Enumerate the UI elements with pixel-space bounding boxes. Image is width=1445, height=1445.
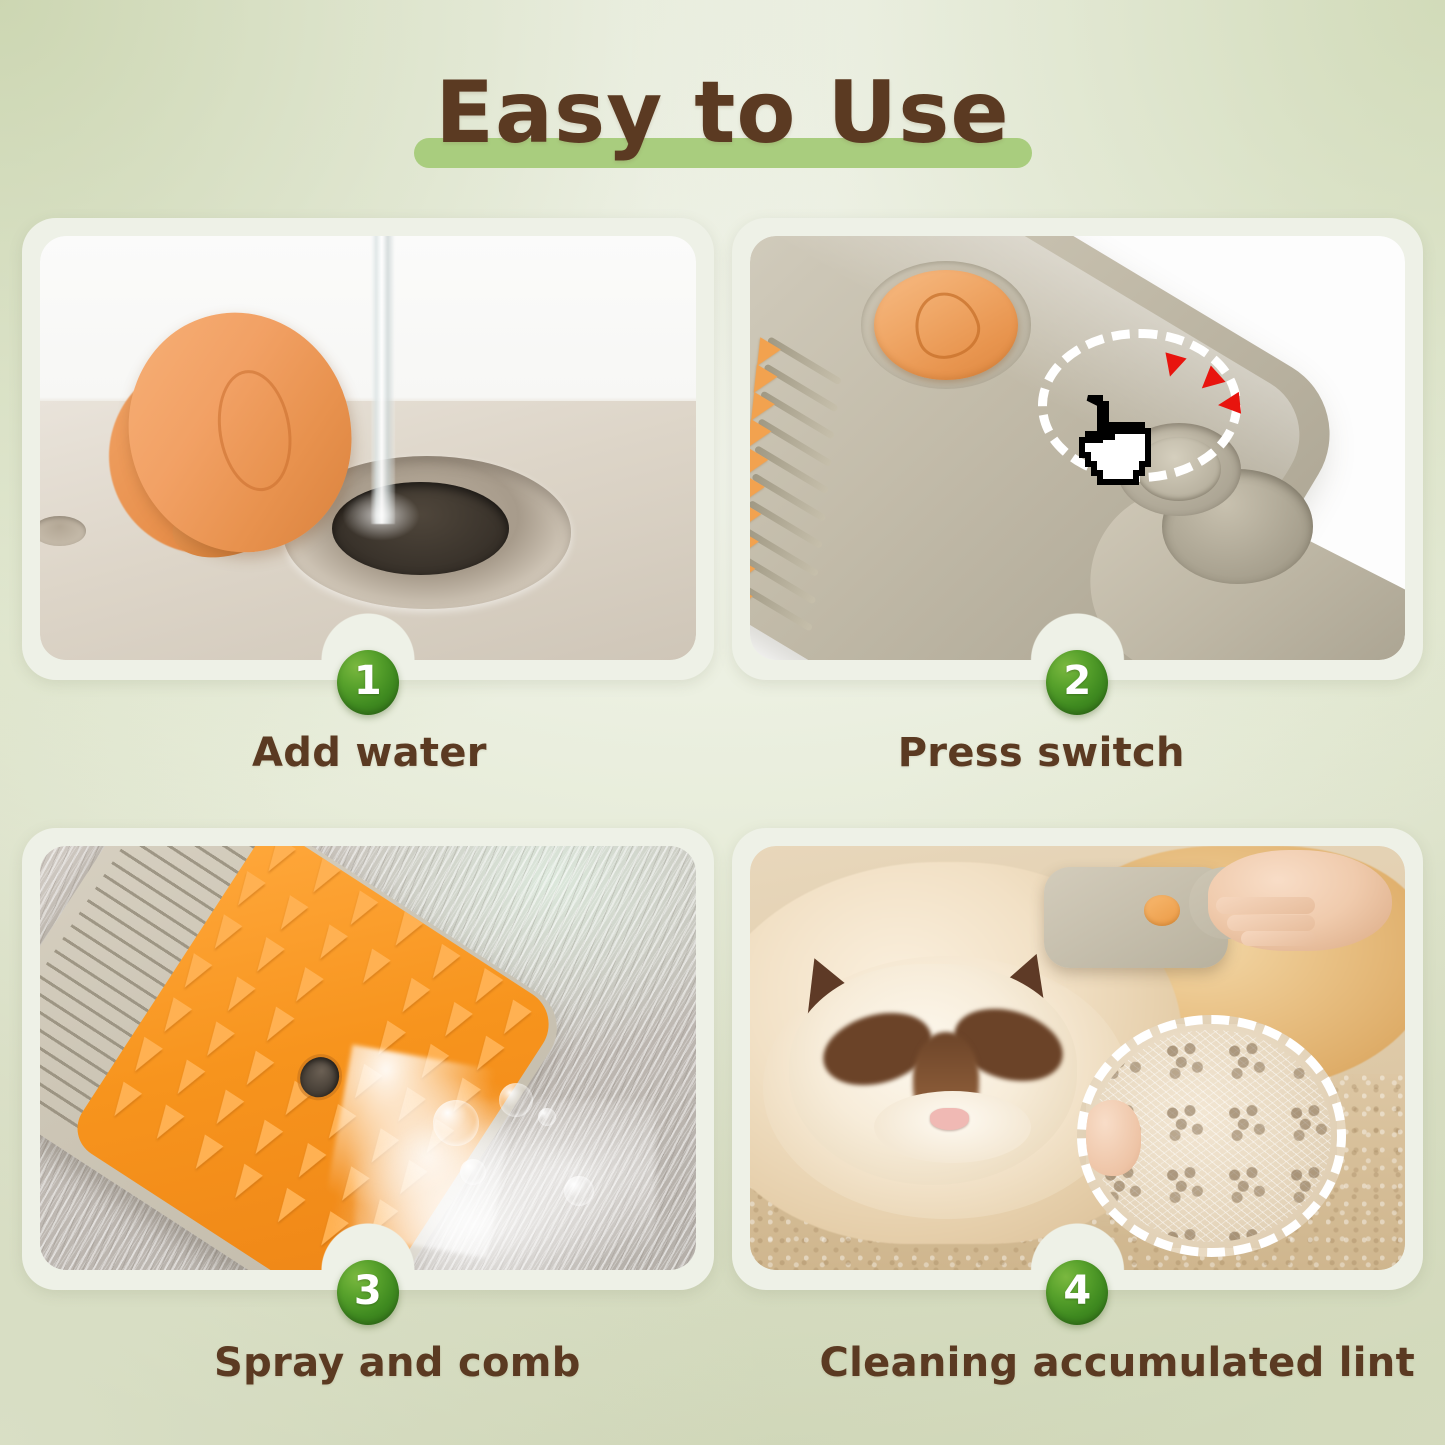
device-orange-button [1144,895,1181,926]
water-drop-glyph [905,283,987,366]
product-infographic-poster: Easy to Use [0,0,1445,1445]
cap-groove [209,365,299,497]
secondary-hole [40,516,86,546]
step-4-photo [750,846,1406,1270]
water-bubble-icon [433,1100,479,1146]
add-water-scene [40,236,696,660]
page-title-area: Easy to Use [0,52,1445,182]
dashed-inset-circle-icon [1077,1015,1346,1257]
step-caption-1: Add water [22,730,714,776]
red-press-arrow-icon [1217,392,1241,416]
step-card-1: 1 Add water [22,218,714,814]
step-card-3: 3 Spray and comb [22,828,714,1424]
orange-drop-button-icon[interactable] [874,270,1018,380]
step-caption-4: Cleaning accumulated lint [732,1340,1424,1386]
step-caption-3: Spray and comb [22,1340,714,1386]
thumb [1081,1100,1141,1176]
steps-grid: 1 Add water [22,218,1423,1423]
step-1-photo [40,236,696,660]
step-2-photo [750,236,1406,660]
step-3-photo [40,846,696,1270]
page-title: Easy to Use [435,52,1009,174]
step-badge-1: 1 [337,650,399,715]
step-caption-2: Press switch [696,730,1388,776]
pointing-hand-cursor-icon [1061,389,1157,497]
step-badge-2: 2 [1046,650,1108,715]
human-hand [1208,850,1392,952]
step-card-4: 4 Cleaning accumulated lint [732,828,1424,1424]
step-card-2: 2 Press switch [732,218,1424,814]
press-switch-scene [750,236,1406,660]
cat-nose [930,1108,969,1129]
step-badge-4: 4 [1046,1260,1108,1325]
mist-cloud [355,1100,657,1270]
step-badge-3: 3 [337,1260,399,1325]
spray-and-comb-scene [40,846,696,1270]
cap-face [99,284,380,580]
water-bubble-icon [499,1083,533,1117]
water-bubble-icon [460,1159,486,1185]
cleaning-lint-scene [750,846,1406,1270]
